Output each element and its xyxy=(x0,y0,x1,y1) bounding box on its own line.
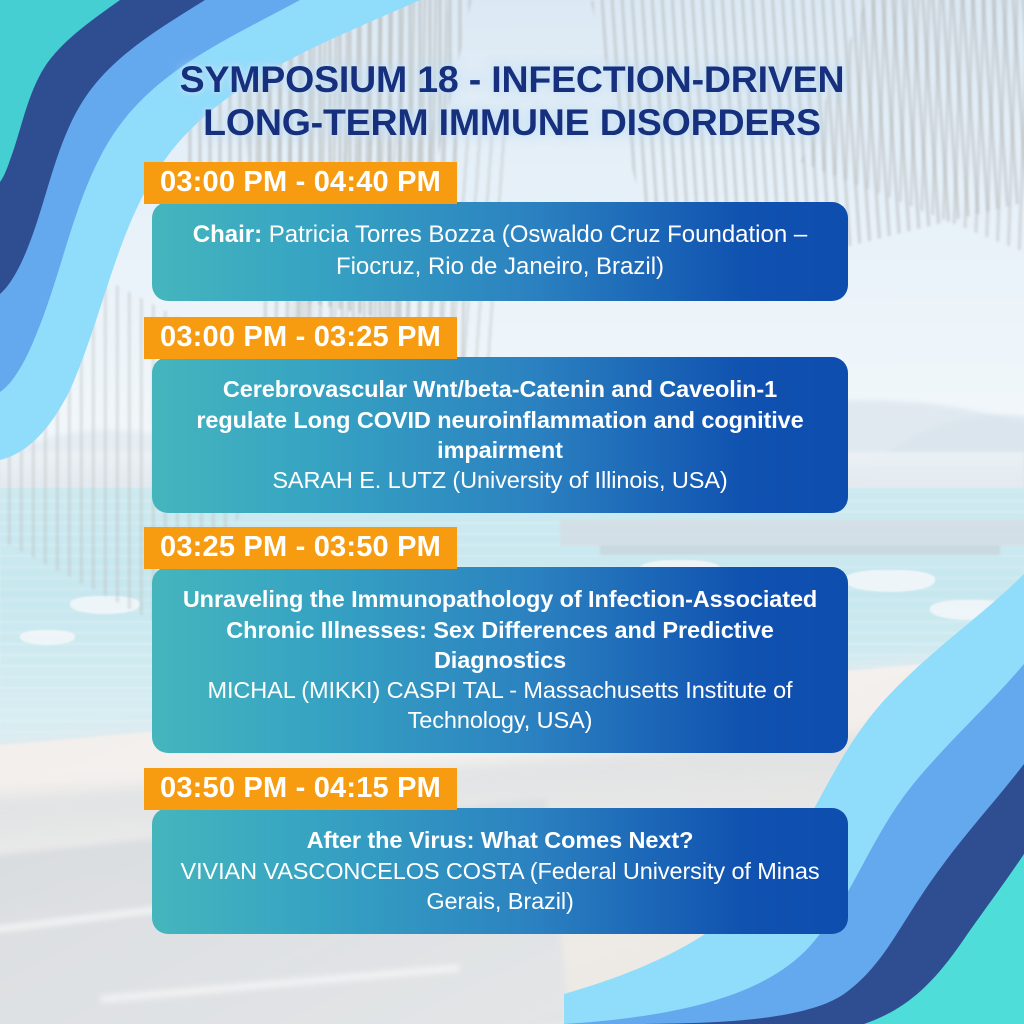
session-2: 03:25 PM - 03:50 PM Unraveling the Immun… xyxy=(144,527,848,753)
session-time-badge: 03:25 PM - 03:50 PM xyxy=(144,527,457,569)
session-1: 03:00 PM - 03:25 PM Cerebrovascular Wnt/… xyxy=(144,317,848,513)
session-time-badge: 03:50 PM - 04:15 PM xyxy=(144,768,457,810)
chair-line: Chair: Patricia Torres Bozza (Oswaldo Cr… xyxy=(178,219,822,283)
talk-title: Unraveling the Immunopathology of Infect… xyxy=(178,584,822,674)
session-time-badge: 03:00 PM - 03:25 PM xyxy=(144,317,457,359)
session-time-badge: 03:00 PM - 04:40 PM xyxy=(144,162,457,204)
page-title: SYMPOSIUM 18 - INFECTION-DRIVEN LONG-TER… xyxy=(0,58,1024,144)
session-card: After the Virus: What Comes Next? VIVIAN… xyxy=(152,808,848,934)
session-overview: 03:00 PM - 04:40 PM Chair: Patricia Torr… xyxy=(144,162,848,301)
session-card: Cerebrovascular Wnt/beta-Catenin and Cav… xyxy=(152,357,848,513)
chair-label: Chair: xyxy=(193,221,262,248)
talk-title: After the Virus: What Comes Next? xyxy=(178,825,822,855)
page-title-line-2: LONG-TERM IMMUNE DISORDERS xyxy=(60,101,964,144)
session-3: 03:50 PM - 04:15 PM After the Virus: Wha… xyxy=(144,768,848,934)
page-title-line-1: SYMPOSIUM 18 - INFECTION-DRIVEN xyxy=(60,58,964,101)
talk-title: Cerebrovascular Wnt/beta-Catenin and Cav… xyxy=(178,374,822,464)
talk-speaker: VIVIAN VASCONCELOS COSTA (Federal Univer… xyxy=(178,856,822,917)
chair-name: Patricia Torres Bozza (Oswaldo Cruz Foun… xyxy=(262,221,807,280)
talk-speaker: MICHAL (MIKKI) CASPI TAL - Massachusetts… xyxy=(178,675,822,736)
session-card: Unraveling the Immunopathology of Infect… xyxy=(152,567,848,753)
talk-speaker: SARAH E. LUTZ (University of Illinois, U… xyxy=(178,465,822,495)
session-card-chair: Chair: Patricia Torres Bozza (Oswaldo Cr… xyxy=(152,202,848,301)
